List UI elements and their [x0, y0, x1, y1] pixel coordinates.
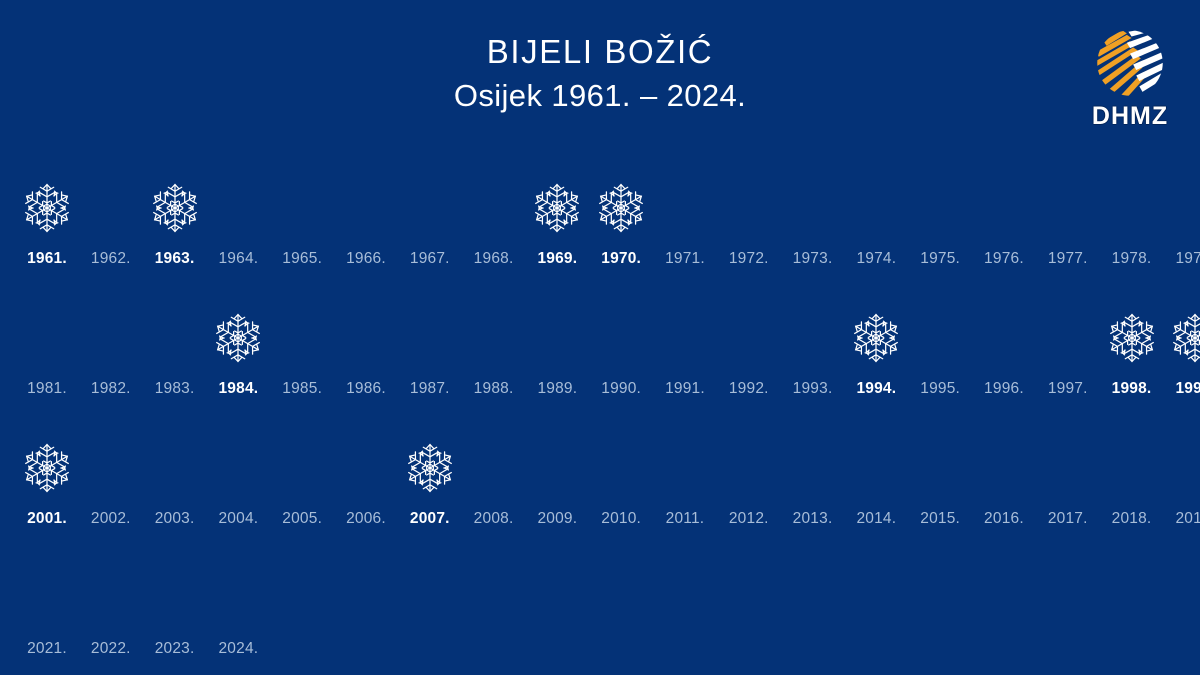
- year-label: 1989.: [537, 378, 577, 408]
- dhmz-globe-icon: [1091, 24, 1169, 102]
- year-label: 2003.: [155, 508, 195, 538]
- snowflake-slot: [18, 298, 76, 378]
- snowflake-slot: [1166, 298, 1200, 378]
- year-cell: 1970.: [592, 148, 650, 278]
- snowflake-icon: [529, 180, 585, 236]
- year-label: 1995.: [920, 378, 960, 408]
- snowflake-slot: [592, 428, 650, 508]
- snowflake-icon: [848, 310, 904, 366]
- snowflake-slot: [720, 428, 778, 508]
- year-label: 2015.: [920, 508, 960, 538]
- snowflake-slot: [18, 168, 76, 248]
- year-cell: 1995.: [911, 278, 969, 408]
- year-cell: 1981.: [18, 278, 76, 408]
- snowflake-slot: [273, 168, 331, 248]
- snowflake-slot: [528, 428, 586, 508]
- year-cell: 1967.: [401, 148, 459, 278]
- year-label: 1965.: [282, 248, 322, 278]
- year-label: 1992.: [729, 378, 769, 408]
- year-cell: 1994.: [847, 278, 905, 408]
- year-label: 2011.: [666, 508, 705, 538]
- year-label: 1961.: [27, 248, 67, 278]
- snowflake-slot: [1103, 168, 1161, 248]
- year-label: 1967.: [410, 248, 450, 278]
- year-cell: 2024.: [209, 538, 267, 668]
- year-label: 1985.: [282, 378, 322, 408]
- year-cell: 1996.: [975, 278, 1033, 408]
- snowflake-slot: [656, 168, 714, 248]
- year-label: 2023.: [155, 638, 195, 668]
- year-cell: 2007.: [401, 408, 459, 538]
- year-label: 1962.: [91, 248, 131, 278]
- snowflake-slot: [337, 298, 395, 378]
- year-cell: 1972.: [720, 148, 778, 278]
- snowflake-slot: [1166, 168, 1200, 248]
- year-cell: 2019.: [1166, 408, 1200, 538]
- year-cell: 2023.: [146, 538, 204, 668]
- year-label: 1997.: [1048, 378, 1088, 408]
- year-label: 1982.: [91, 378, 131, 408]
- year-label: 1987.: [410, 378, 450, 408]
- year-label: 1976.: [984, 248, 1024, 278]
- snowflake-slot: [337, 168, 395, 248]
- year-cell: 2015.: [911, 408, 969, 538]
- year-cell: 1979.: [1166, 148, 1200, 278]
- year-label: 2002.: [91, 508, 131, 538]
- year-cell: 1971.: [656, 148, 714, 278]
- snowflake-slot: [465, 428, 523, 508]
- year-label: 2001.: [27, 508, 67, 538]
- year-label: 1972.: [729, 248, 769, 278]
- year-cell: 1977.: [1039, 148, 1097, 278]
- year-label: 1968.: [474, 248, 514, 278]
- year-label: 2008.: [474, 508, 514, 538]
- year-label: 1984.: [218, 378, 258, 408]
- snowflake-slot: [592, 168, 650, 248]
- snowflake-slot: [209, 298, 267, 378]
- snowflake-slot: [911, 428, 969, 508]
- year-label: 1966.: [346, 248, 386, 278]
- snowflake-icon: [147, 180, 203, 236]
- year-cell: 1991.: [656, 278, 714, 408]
- year-label: 1974.: [856, 248, 896, 278]
- year-cell: 2008.: [465, 408, 523, 538]
- year-cell: 1963.: [146, 148, 204, 278]
- snowflake-slot: [209, 428, 267, 508]
- year-cell: 1990.: [592, 278, 650, 408]
- year-label: 2017.: [1048, 508, 1088, 538]
- snowflake-slot: [465, 298, 523, 378]
- year-cell: 1987.: [401, 278, 459, 408]
- snowflake-icon: [593, 180, 649, 236]
- year-label: 2009.: [537, 508, 577, 538]
- year-label: 1998.: [1112, 378, 1152, 408]
- year-cell: 2013.: [784, 408, 842, 538]
- year-cell: 1964.: [209, 148, 267, 278]
- snowflake-slot: [401, 298, 459, 378]
- year-label: 1978.: [1112, 248, 1152, 278]
- year-label: 1964.: [218, 248, 258, 278]
- snowflake-icon: [402, 440, 458, 496]
- year-label: 2013.: [793, 508, 833, 538]
- snowflake-slot: [337, 428, 395, 508]
- snowflake-slot: [1166, 428, 1200, 508]
- year-cell: 1978.: [1103, 148, 1161, 278]
- snowflake-icon: [19, 180, 75, 236]
- snowflake-slot: [465, 168, 523, 248]
- snowflake-slot: [273, 428, 331, 508]
- year-label: 1969.: [537, 248, 577, 278]
- snowflake-slot: [18, 428, 76, 508]
- snowflake-slot: [401, 428, 459, 508]
- snowflake-slot: [82, 168, 140, 248]
- year-label: 1979.: [1175, 248, 1200, 278]
- year-label: 2010.: [601, 508, 641, 538]
- year-row: 2001.2002.2003.2004.2005.2006.2007.2008.…: [0, 408, 1200, 538]
- snowflake-slot: [528, 168, 586, 248]
- year-row: 1981.1982.1983.1984.1985.1986.1987.1988.…: [0, 278, 1200, 408]
- snowflake-slot: [720, 168, 778, 248]
- year-cell: 1974.: [847, 148, 905, 278]
- snowflake-slot: [847, 428, 905, 508]
- year-cell: 1988.: [465, 278, 523, 408]
- year-label: 1991.: [665, 378, 705, 408]
- snowflake-slot: [146, 298, 204, 378]
- year-cell: 2009.: [528, 408, 586, 538]
- year-cell: 2021.: [18, 538, 76, 668]
- snowflake-slot: [1103, 298, 1161, 378]
- year-cell: 2022.: [82, 538, 140, 668]
- year-cell: 1999.: [1166, 278, 1200, 408]
- year-cell: 2017.: [1039, 408, 1097, 538]
- year-label: 2012.: [729, 508, 769, 538]
- year-label: 2014.: [856, 508, 896, 538]
- year-cell: 1989.: [528, 278, 586, 408]
- year-cell: 2006.: [337, 408, 395, 538]
- snowflake-slot: [1039, 428, 1097, 508]
- year-label: 1971.: [665, 248, 705, 278]
- year-label: 2007.: [410, 508, 450, 538]
- year-cell: 2010.: [592, 408, 650, 538]
- dhmz-logo: DHMZ: [1082, 24, 1178, 132]
- year-label: 1975.: [920, 248, 960, 278]
- snowflake-slot: [82, 558, 140, 638]
- year-label: 1990.: [601, 378, 641, 408]
- snowflake-slot: [847, 168, 905, 248]
- snowflake-icon: [210, 310, 266, 366]
- snowflake-slot: [209, 168, 267, 248]
- year-cell: 2004.: [209, 408, 267, 538]
- snowflake-icon: [19, 440, 75, 496]
- page-title: BIJELI BOŽIĆ: [0, 30, 1200, 74]
- year-cell: 1983.: [146, 278, 204, 408]
- year-label: 2005.: [282, 508, 322, 538]
- snowflake-slot: [1103, 428, 1161, 508]
- year-cell: 1985.: [273, 278, 331, 408]
- snowflake-slot: [146, 168, 204, 248]
- year-label: 1999.: [1175, 378, 1200, 408]
- snowflake-slot: [146, 428, 204, 508]
- snowflake-slot: [146, 558, 204, 638]
- snowflake-slot: [592, 298, 650, 378]
- year-label: 2022.: [91, 638, 131, 668]
- year-label: 2018.: [1112, 508, 1152, 538]
- year-label: 1970.: [601, 248, 641, 278]
- snowflake-slot: [273, 298, 331, 378]
- year-label: 2021.: [27, 638, 67, 668]
- title-block: BIJELI BOŽIĆ Osijek 1961. – 2024.: [0, 30, 1200, 118]
- year-label: 2016.: [984, 508, 1024, 538]
- year-row: 2021.2022.2023.2024.: [0, 538, 1200, 668]
- year-cell: 1973.: [784, 148, 842, 278]
- year-cell: 1975.: [911, 148, 969, 278]
- snowflake-slot: [975, 168, 1033, 248]
- snowflake-slot: [720, 298, 778, 378]
- snowflake-slot: [528, 298, 586, 378]
- year-label: 1994.: [856, 378, 896, 408]
- year-label: 2004.: [218, 508, 258, 538]
- snowflake-slot: [656, 428, 714, 508]
- snowflake-slot: [784, 168, 842, 248]
- year-label: 1973.: [793, 248, 833, 278]
- year-cell: 2002.: [82, 408, 140, 538]
- year-cell: 1962.: [82, 148, 140, 278]
- snowflake-slot: [911, 298, 969, 378]
- snowflake-slot: [401, 168, 459, 248]
- year-cell: 1997.: [1039, 278, 1097, 408]
- snowflake-slot: [209, 558, 267, 638]
- year-cell: 1998.: [1103, 278, 1161, 408]
- dhmz-logo-text: DHMZ: [1082, 103, 1178, 129]
- year-cell: 2012.: [720, 408, 778, 538]
- snowflake-slot: [784, 298, 842, 378]
- poster-header: BIJELI BOŽIĆ Osijek 1961. – 2024.: [0, 0, 1200, 140]
- year-cell: 1976.: [975, 148, 1033, 278]
- snowflake-slot: [847, 298, 905, 378]
- snowflake-slot: [656, 298, 714, 378]
- snowflake-slot: [1039, 298, 1097, 378]
- year-cell: 1986.: [337, 278, 395, 408]
- snowflake-icon: [1104, 310, 1160, 366]
- year-label: 1996.: [984, 378, 1024, 408]
- year-label: 2024.: [218, 638, 258, 668]
- snowflake-icon: [1167, 310, 1200, 366]
- year-cell: 1984.: [209, 278, 267, 408]
- year-row: 1961.1962.1963.1964.1965.1966.1967.1968.…: [0, 148, 1200, 278]
- year-cell: 1992.: [720, 278, 778, 408]
- year-cell: 2003.: [146, 408, 204, 538]
- year-cell: 1969.: [528, 148, 586, 278]
- snowflake-slot: [82, 298, 140, 378]
- page-subtitle: Osijek 1961. – 2024.: [0, 74, 1200, 118]
- year-cell: 1966.: [337, 148, 395, 278]
- snowflake-slot: [82, 428, 140, 508]
- year-cell: 2016.: [975, 408, 1033, 538]
- snowflake-slot: [784, 428, 842, 508]
- year-label: 2006.: [346, 508, 386, 538]
- snowflake-slot: [975, 298, 1033, 378]
- year-timeline: 1961.1962.1963.1964.1965.1966.1967.1968.…: [0, 148, 1200, 668]
- year-cell: 1982.: [82, 278, 140, 408]
- year-cell: 2001.: [18, 408, 76, 538]
- year-cell: 1968.: [465, 148, 523, 278]
- year-cell: 2018.: [1103, 408, 1161, 538]
- year-cell: 2005.: [273, 408, 331, 538]
- year-label: 1993.: [793, 378, 833, 408]
- year-label: 1981.: [27, 378, 67, 408]
- poster-canvas: BIJELI BOŽIĆ Osijek 1961. – 2024.: [0, 0, 1200, 675]
- year-cell: 1993.: [784, 278, 842, 408]
- year-label: 1963.: [155, 248, 195, 278]
- year-cell: 2014.: [847, 408, 905, 538]
- year-label: 1988.: [474, 378, 514, 408]
- snowflake-slot: [18, 558, 76, 638]
- snowflake-slot: [911, 168, 969, 248]
- year-label: 1977.: [1048, 248, 1088, 278]
- snowflake-slot: [1039, 168, 1097, 248]
- year-label: 1986.: [346, 378, 386, 408]
- year-cell: 1961.: [18, 148, 76, 278]
- year-label: 1983.: [155, 378, 195, 408]
- snowflake-slot: [975, 428, 1033, 508]
- year-cell: 1965.: [273, 148, 331, 278]
- year-cell: 2011.: [656, 408, 714, 538]
- year-label: 2019.: [1175, 508, 1200, 538]
